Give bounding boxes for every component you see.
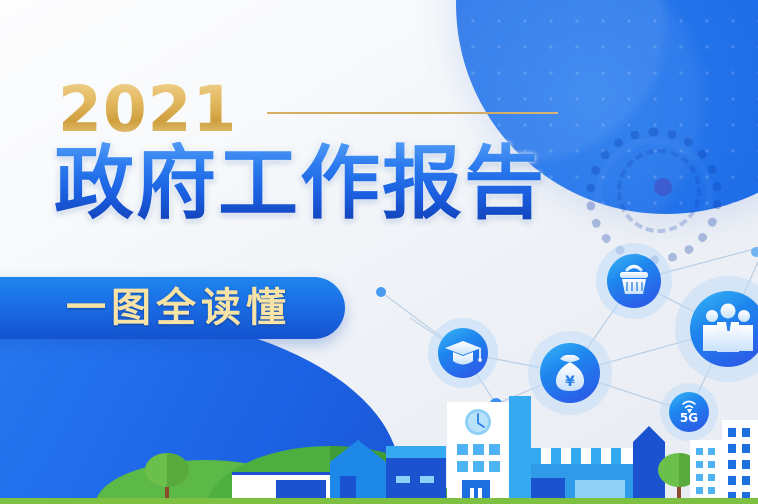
city-skyline-illustration: [0, 384, 758, 504]
clock-tower: [447, 396, 531, 504]
year-label: 2021: [58, 78, 237, 141]
shop-awning: [531, 426, 665, 504]
house-blue: [330, 440, 446, 504]
people-group-icon: [675, 276, 758, 382]
apartment-block: [690, 420, 758, 504]
gold-divider-line: [267, 112, 558, 114]
badge-one-image-read-all[interactable]: 一图全读懂: [0, 277, 345, 339]
shopping-basket-icon: [596, 243, 672, 319]
badge-label: 一图全读懂: [66, 288, 345, 328]
year-row: 2021: [58, 78, 558, 141]
poster-canvas: ¥ 5G: [0, 0, 758, 504]
page-title: 政府工作报告: [54, 142, 546, 226]
graduation-cap-icon: [428, 318, 498, 388]
grass-strip: [0, 498, 758, 504]
